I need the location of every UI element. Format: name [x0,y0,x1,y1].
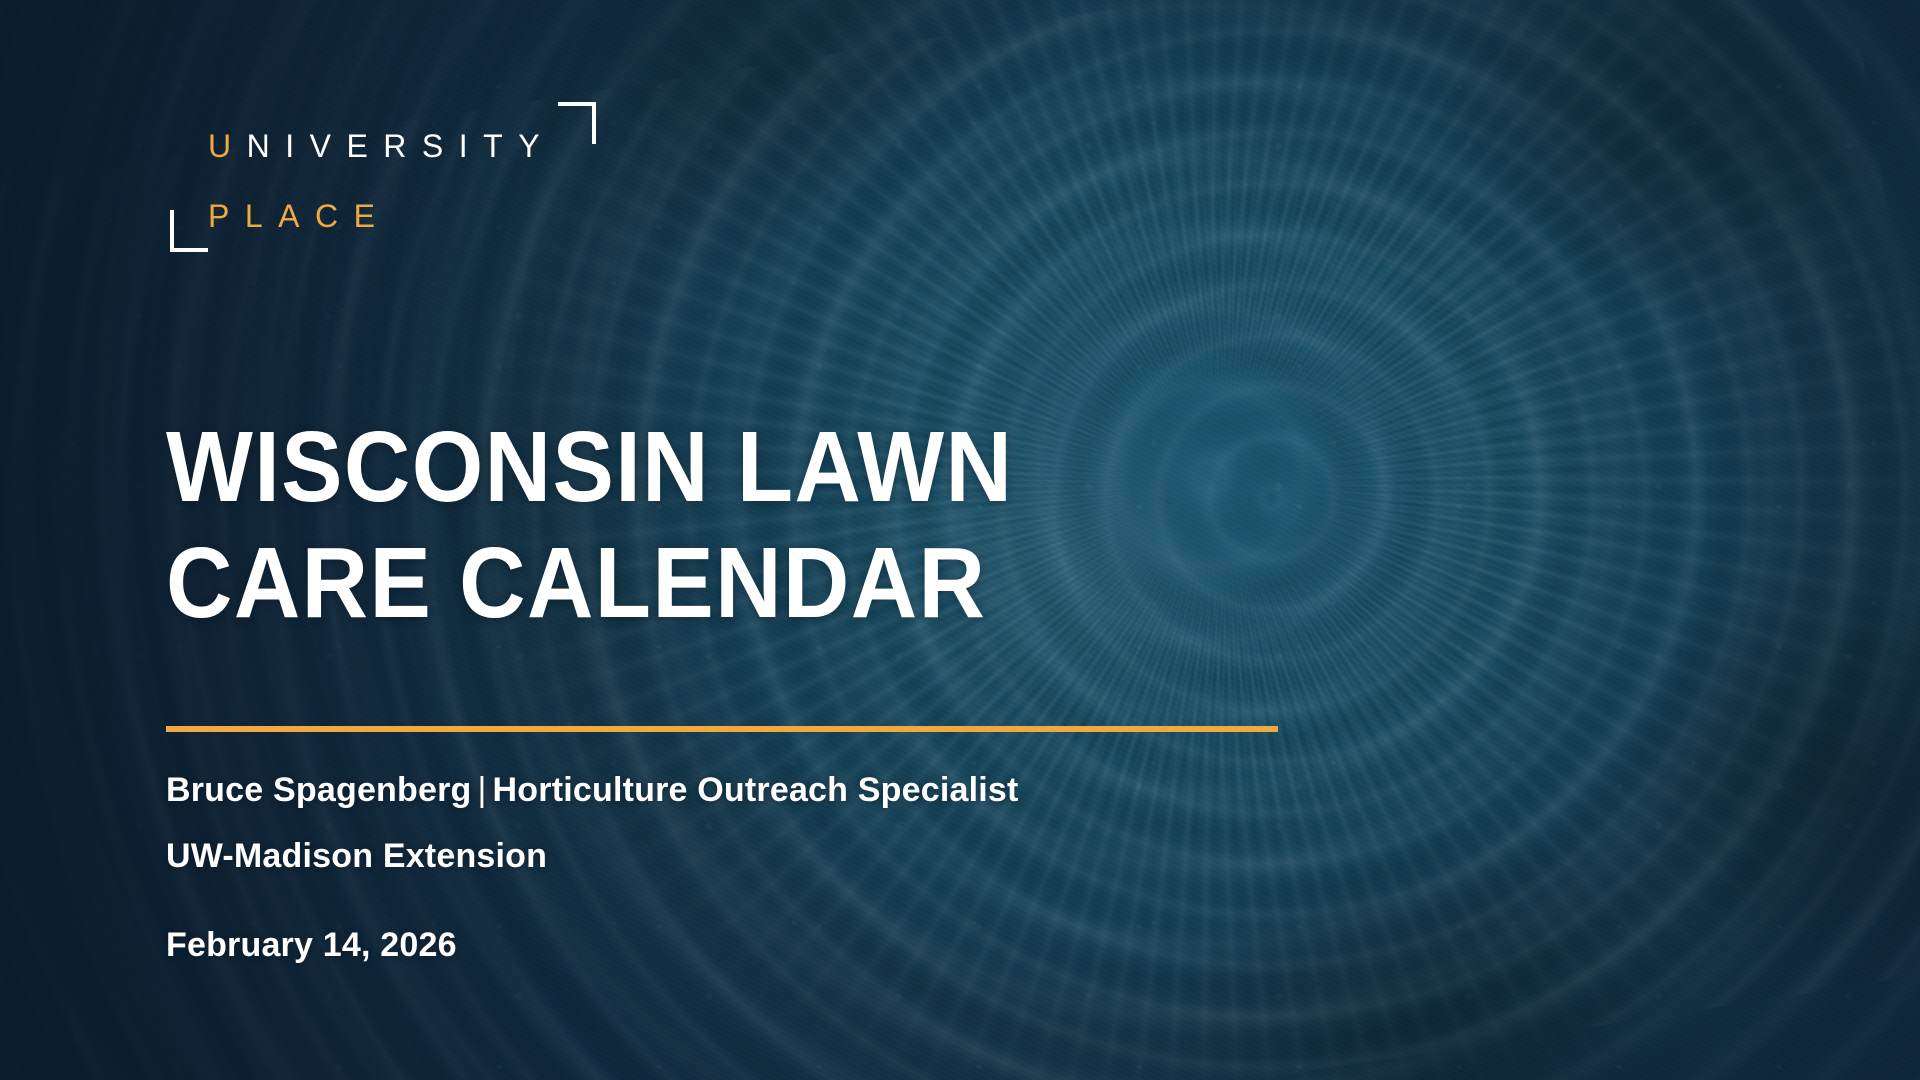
presenter-role: Horticulture Outreach Specialist [493,771,1019,809]
logo-accent-letter: U [208,128,247,164]
presenter-name-role: Bruce Spagenberg|Horticulture Outreach S… [166,757,1019,823]
logo-line-university: UNIVERSITY [208,130,555,162]
slide-date: February 14, 2026 [166,928,457,962]
presenter-block: Bruce Spagenberg|Horticulture Outreach S… [166,757,1019,889]
logo-line-university-rest: NIVERSITY [247,128,555,164]
gold-divider [166,726,1278,732]
title-slide: UNIVERSITY PLACE WISCONSIN LAWN CARE CAL… [0,0,1920,1080]
bracket-top-right-icon [558,102,596,144]
presenter-affiliation: UW-Madison Extension [166,823,1019,889]
slide-title: WISCONSIN LAWN CARE CALENDAR [166,409,1252,641]
university-place-logo[interactable]: UNIVERSITY PLACE [166,96,606,256]
presenter-name: Bruce Spagenberg [166,771,472,809]
presenter-separator: | [472,771,493,809]
logo-line-place: PLACE [208,200,390,232]
slide-title-line-1: WISCONSIN LAWN [166,409,1252,525]
bracket-bottom-left-icon [170,210,208,252]
slide-title-line-2: CARE CALENDAR [166,525,1252,641]
